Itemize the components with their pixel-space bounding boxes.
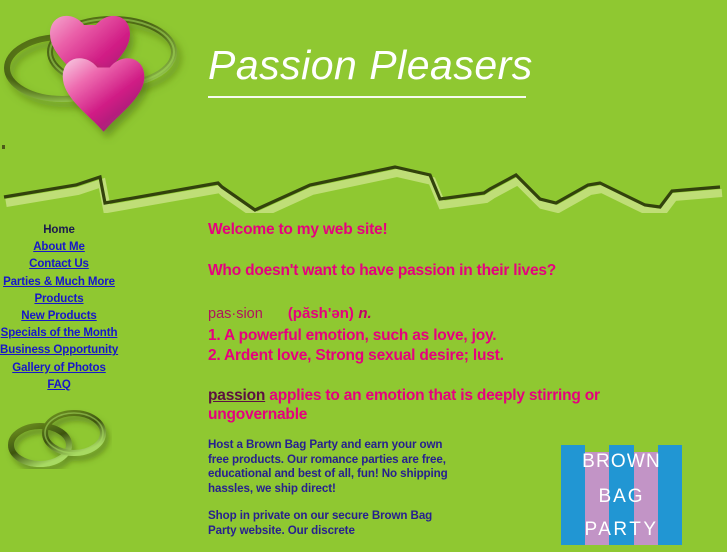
corner-speck xyxy=(2,145,5,149)
body-copy: Host a Brown Bag Party and earn your own… xyxy=(208,438,453,552)
sidebar-item-faq[interactable]: FAQ xyxy=(0,377,118,394)
sidebar-item-new-products[interactable]: New Products xyxy=(0,308,118,325)
bbp-line-party: PARTY xyxy=(561,519,682,541)
welcome-heading: Welcome to my web site! xyxy=(208,220,387,239)
question-heading: Who doesn't want to have passion in thei… xyxy=(208,261,556,280)
hearts-logo-icon xyxy=(0,0,212,145)
page-title: Passion Pleasers xyxy=(208,44,533,87)
paragraph-host-party: Host a Brown Bag Party and earn your own… xyxy=(208,438,453,496)
sidebar-nav: Home About Me Contact Us Parties & Much … xyxy=(0,222,118,394)
dictionary-pronunciation: (păsh'ən) xyxy=(288,305,354,322)
dictionary-period: . xyxy=(368,305,372,322)
dictionary-word: pas·sion xyxy=(208,306,263,322)
sidebar-item-specials-of-the-month[interactable]: Specials of the Month xyxy=(0,325,118,342)
title-underline xyxy=(208,96,526,98)
bbp-line-bag: BAG xyxy=(561,486,682,508)
paragraph-shop-private: Shop in private on our secure Brown Bag … xyxy=(208,509,453,538)
bbp-line-brown: BROWN xyxy=(561,451,682,473)
zigzag-divider-icon xyxy=(0,155,727,213)
site-header: Passion Pleasers xyxy=(0,0,727,212)
usage-note: passion applies to an emotion that is de… xyxy=(208,386,698,424)
definition-2: 2. Ardent love, Strong sexual desire; lu… xyxy=(208,346,504,365)
sidebar-item-parties-much-more[interactable]: Parties & Much More xyxy=(0,274,118,291)
bbp-text-layer: BROWN BAG PARTY xyxy=(561,445,682,545)
sidebar-item-about-me[interactable]: About Me xyxy=(0,239,118,256)
usage-word: passion xyxy=(208,387,265,404)
dictionary-entry: pas·sion(păsh'ən) n. xyxy=(208,305,372,323)
sidebar-item-gallery-of-photos[interactable]: Gallery of Photos xyxy=(0,360,118,377)
definition-1: 1. A powerful emotion, such as love, joy… xyxy=(208,326,496,345)
interlocking-rings-icon xyxy=(4,407,112,469)
dictionary-part-of-speech: n xyxy=(358,305,367,322)
sidebar-item-contact-us[interactable]: Contact Us xyxy=(0,256,118,273)
sidebar-item-business-opportunity[interactable]: Business Opportunity xyxy=(0,342,118,359)
brown-bag-party-logo[interactable]: BROWN BAG PARTY xyxy=(561,445,682,545)
sidebar-item-products[interactable]: Products xyxy=(0,291,118,308)
sidebar-item-home[interactable]: Home xyxy=(0,222,118,239)
usage-rest: applies to an emotion that is deeply sti… xyxy=(208,387,600,423)
